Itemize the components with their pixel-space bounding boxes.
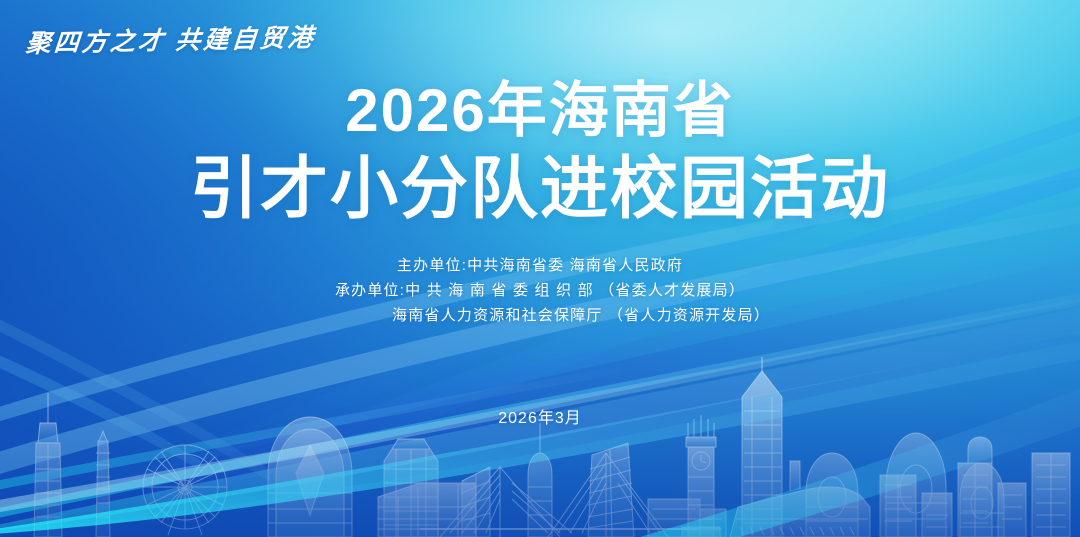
poster-banner: 聚四方之才 共建自贸港 2026年海南省 引才小分队进校园活动 主办单位:中共海… <box>0 0 1080 537</box>
organizer-line-1: 主办单位:中共海南省委 海南省人民政府 <box>0 253 1080 278</box>
event-date: 2026年3月 <box>0 404 1080 428</box>
organizer-line-2: 承办单位:中 共 海 南 省 委 组 织 部 （省委人才发展局） <box>0 278 1080 303</box>
poster-title: 2026年海南省 引才小分队进校园活动 <box>0 74 1080 230</box>
organizer-block: 主办单位:中共海南省委 海南省人民政府 承办单位:中 共 海 南 省 委 组 织… <box>0 253 1080 328</box>
foreground-cyan-band <box>0 320 1080 537</box>
title-line-1: 2026年海南省 <box>0 74 1080 148</box>
slogan-text: 聚四方之才 共建自贸港 <box>24 18 317 60</box>
organizer-line-3: 海南省人力资源和社会保障厅 （省人力资源开发局） <box>0 303 1080 328</box>
title-line-2: 引才小分队进校园活动 <box>0 148 1080 230</box>
